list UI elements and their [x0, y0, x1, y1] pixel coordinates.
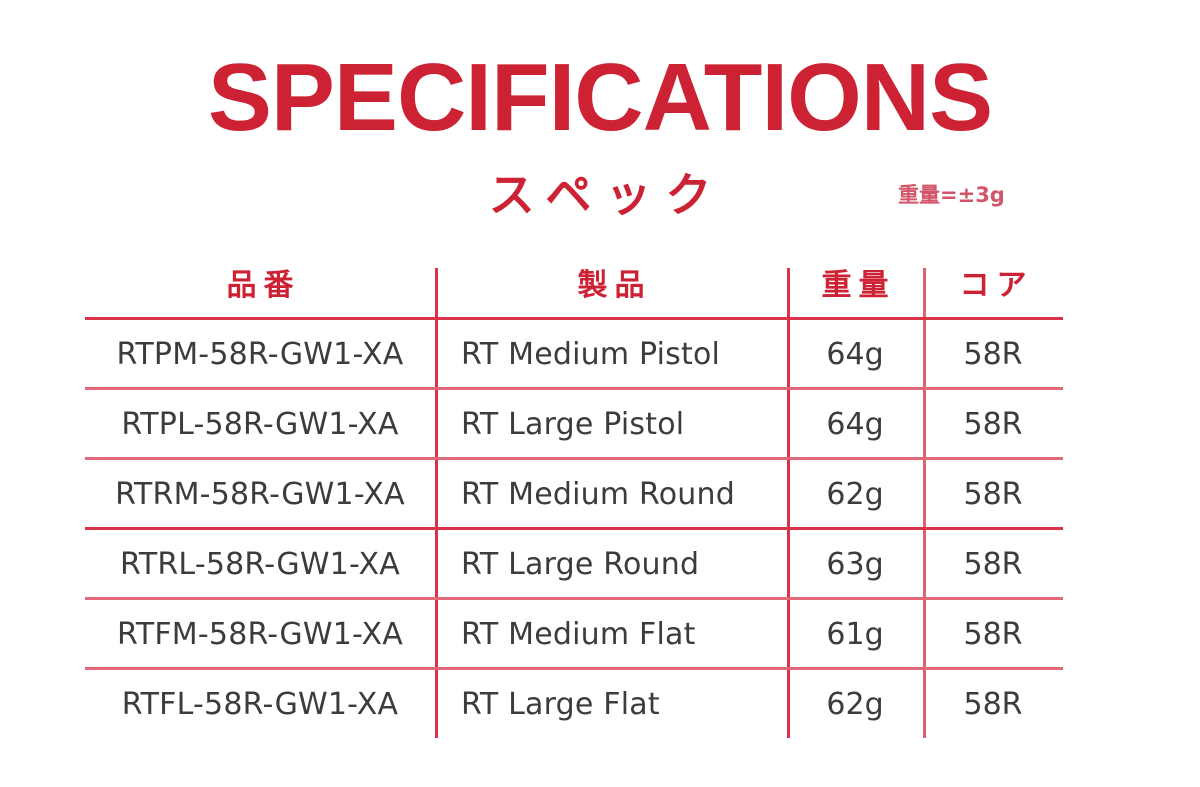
cell-product: RT Large Pistol: [435, 390, 787, 460]
cell-core: 58R: [923, 390, 1063, 460]
specifications-table: 品番 製品 重量 コア RTPM-58R-GW1-XA RT Medium Pi…: [85, 255, 1063, 740]
weight-tolerance-note: 重量=±3g: [898, 182, 1005, 208]
cell-weight: 61g: [787, 600, 923, 670]
column-header-part-number: 品番: [85, 263, 435, 309]
cell-part-number: RTRL-58R-GW1-XA: [85, 530, 435, 600]
table-row: RTFM-58R-GW1-XA RT Medium Flat 61g 58R: [85, 600, 1063, 670]
cell-weight: 62g: [787, 670, 923, 740]
cell-product: RT Large Flat: [435, 670, 787, 740]
cell-weight: 64g: [787, 320, 923, 390]
table-row: RTRL-58R-GW1-XA RT Large Round 63g 58R: [85, 530, 1063, 600]
cell-core: 58R: [923, 320, 1063, 390]
cell-core: 58R: [923, 530, 1063, 600]
cell-part-number: RTFL-58R-GW1-XA: [85, 670, 435, 740]
table-row: RTPL-58R-GW1-XA RT Large Pistol 64g 58R: [85, 390, 1063, 460]
specifications-page: SPECIFICATIONS スペック 重量=±3g 品番 製品 重量 コア R…: [0, 0, 1200, 787]
cell-product: RT Medium Round: [435, 460, 787, 530]
cell-core: 58R: [923, 600, 1063, 670]
cell-core: 58R: [923, 460, 1063, 530]
cell-part-number: RTFM-58R-GW1-XA: [85, 600, 435, 670]
cell-product: RT Medium Flat: [435, 600, 787, 670]
table-row: RTRM-58R-GW1-XA RT Medium Round 62g 58R: [85, 460, 1063, 530]
cell-core: 58R: [923, 670, 1063, 740]
cell-product: RT Medium Pistol: [435, 320, 787, 390]
cell-part-number: RTRM-58R-GW1-XA: [85, 460, 435, 530]
page-subtitle: スペック: [0, 168, 1200, 222]
page-title: SPECIFICATIONS: [0, 48, 1200, 148]
cell-weight: 62g: [787, 460, 923, 530]
cell-part-number: RTPL-58R-GW1-XA: [85, 390, 435, 460]
cell-part-number: RTPM-58R-GW1-XA: [85, 320, 435, 390]
cell-weight: 63g: [787, 530, 923, 600]
column-header-weight: 重量: [787, 263, 923, 309]
table-row: RTPM-58R-GW1-XA RT Medium Pistol 64g 58R: [85, 320, 1063, 390]
cell-product: RT Large Round: [435, 530, 787, 600]
table-header-row: 品番 製品 重量 コア: [85, 255, 1063, 317]
table-row: RTFL-58R-GW1-XA RT Large Flat 62g 58R: [85, 670, 1063, 740]
cell-weight: 64g: [787, 390, 923, 460]
column-header-product: 製品: [435, 263, 787, 309]
column-header-core: コア: [923, 263, 1063, 309]
